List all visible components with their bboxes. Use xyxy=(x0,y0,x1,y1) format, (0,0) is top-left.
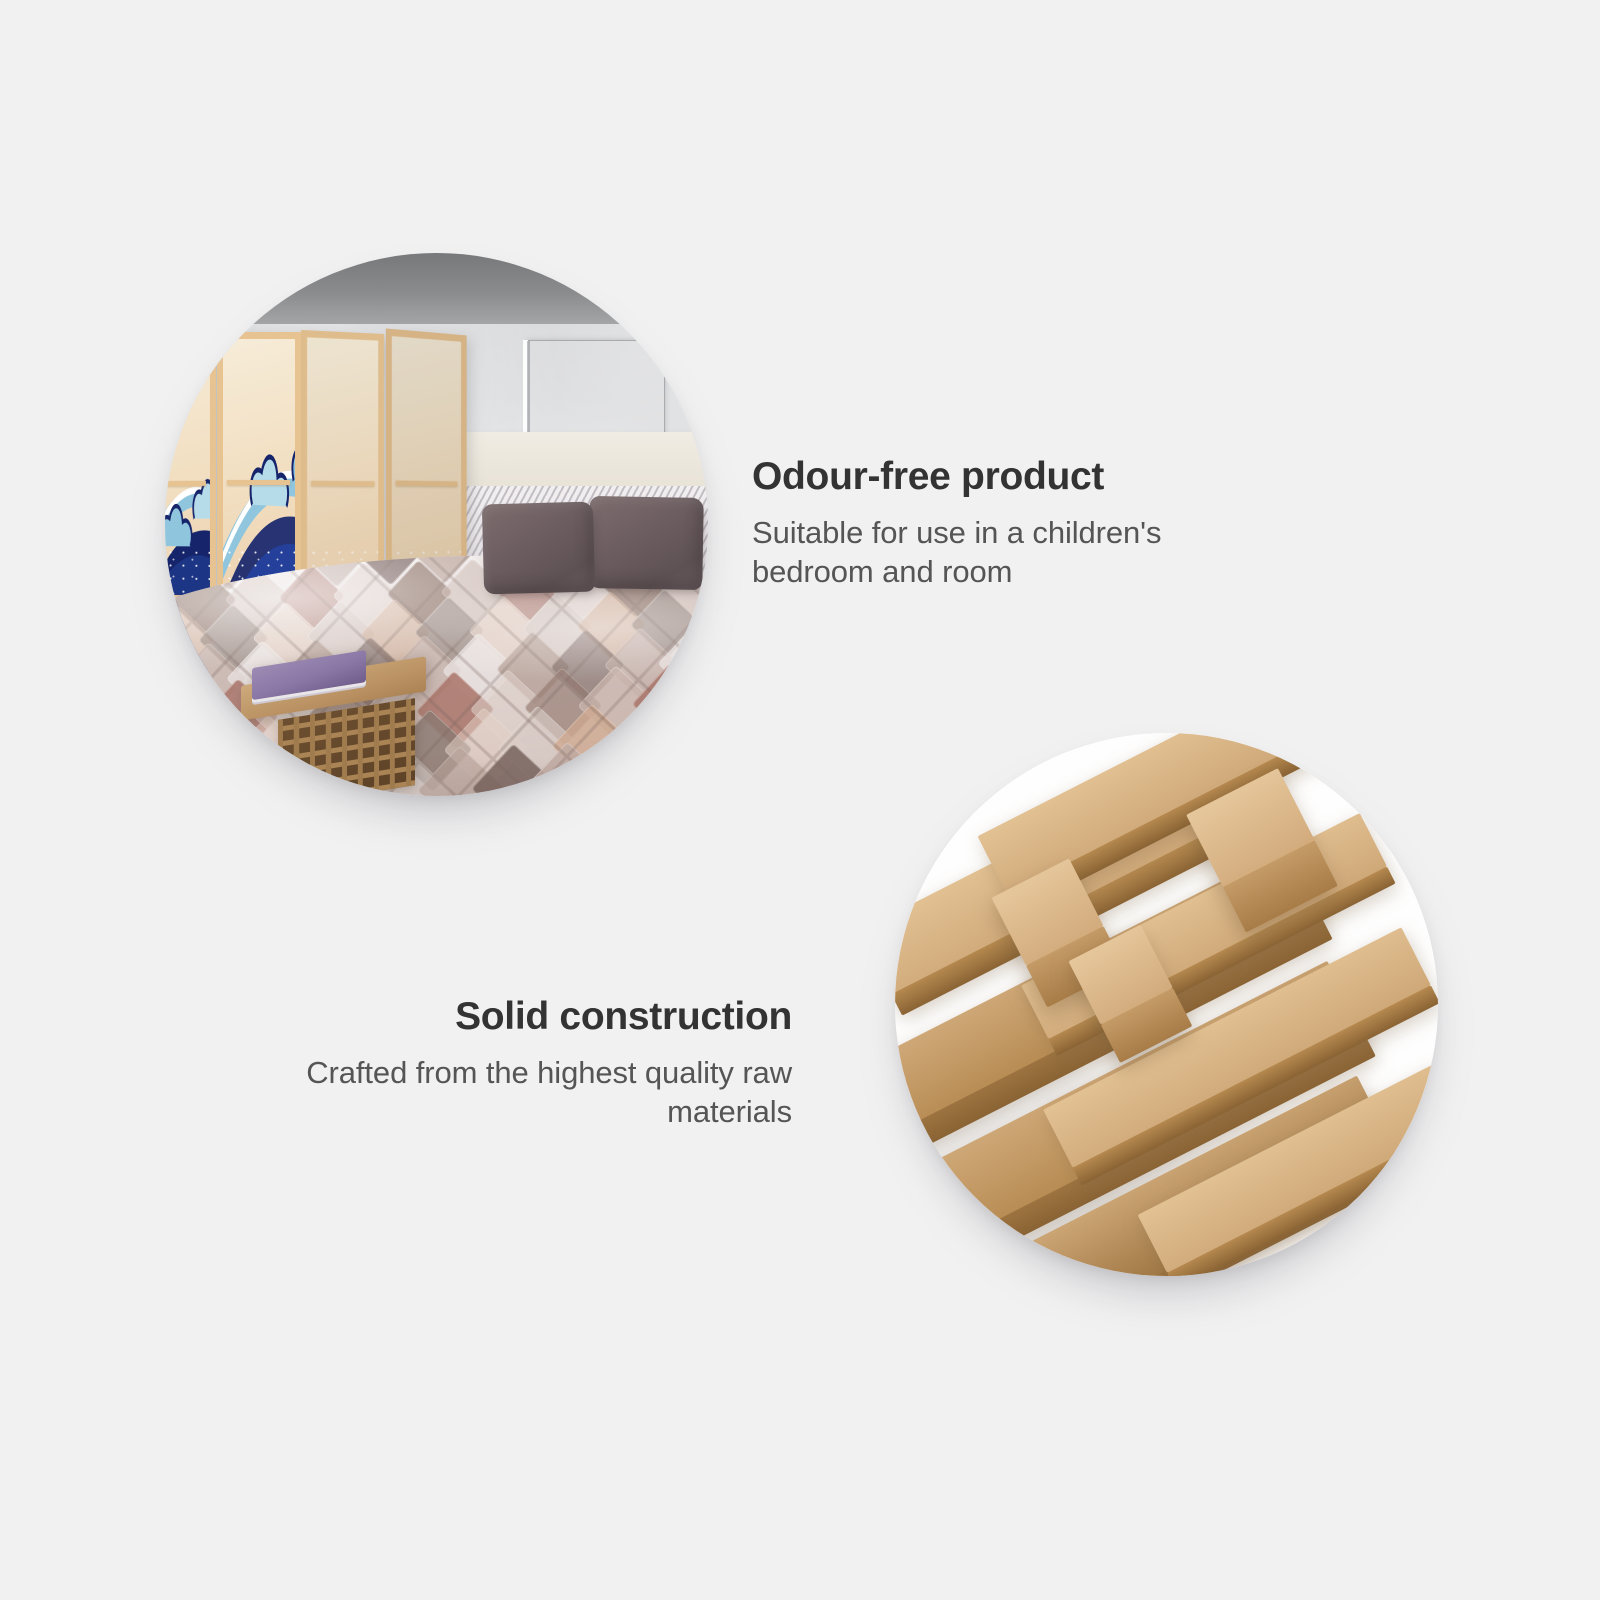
pillow xyxy=(481,501,595,593)
feature-title: Solid construction xyxy=(262,995,792,1039)
feature-subtitle: Suitable for use in a children's bedroom… xyxy=(752,513,1272,591)
feature-showcase: Odour-free product Suitable for use in a… xyxy=(0,0,1600,1600)
stacked-wooden-planks-photo xyxy=(895,733,1438,1276)
wood-plank-stack xyxy=(895,733,1438,1276)
feature-subtitle: Crafted from the highest quality raw mat… xyxy=(262,1053,792,1131)
bench-lattice-panel xyxy=(278,698,415,796)
feature-text-odour-free: Odour-free product Suitable for use in a… xyxy=(752,455,1272,591)
screen-mullion xyxy=(227,480,291,485)
feature-title: Odour-free product xyxy=(752,455,1272,499)
screen-mullion xyxy=(165,480,206,485)
screen-mullion xyxy=(396,480,457,486)
screen-mullion xyxy=(311,480,374,485)
lattice-bench xyxy=(241,671,426,796)
pillow xyxy=(588,496,704,590)
ceiling-shadow xyxy=(165,253,708,324)
feature-text-solid-construction: Solid construction Crafted from the high… xyxy=(262,995,792,1131)
bedroom-with-japanese-folding-screen-photo xyxy=(165,253,708,796)
